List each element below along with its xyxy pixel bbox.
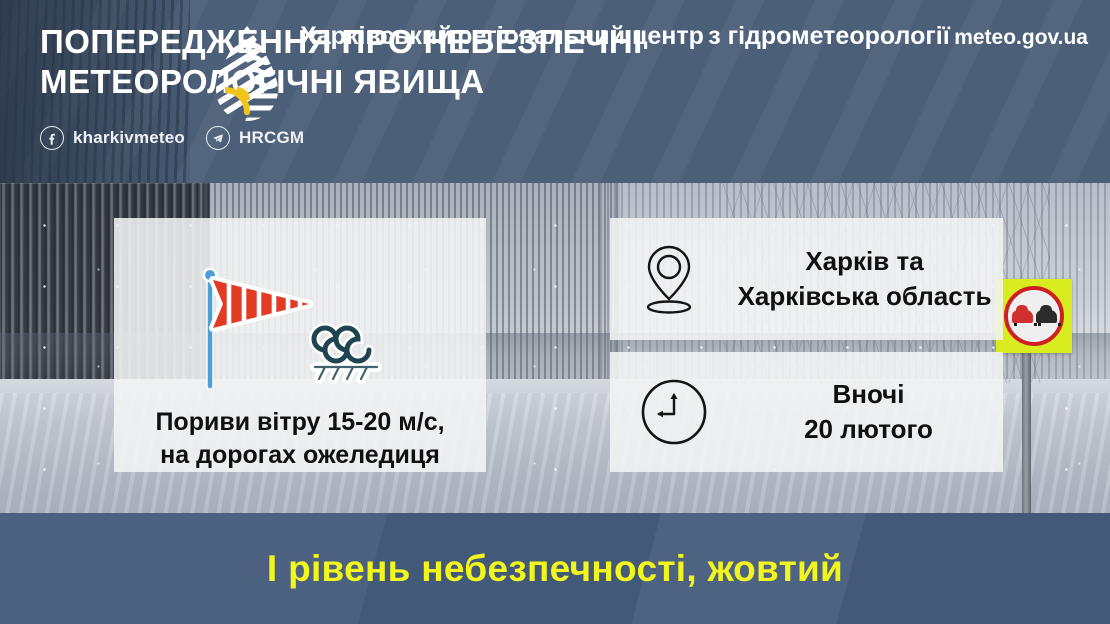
sign-post (1022, 338, 1031, 513)
brand-line-2: регіональний центр (457, 22, 704, 50)
location-line-1: Харків та (726, 244, 1003, 279)
facebook-icon[interactable] (40, 126, 64, 150)
telegram-handle[interactable]: HRCGM (239, 128, 304, 148)
facebook-handle[interactable]: kharkivmeteo (73, 128, 185, 148)
sign-car-red (1012, 310, 1033, 323)
danger-level-banner: І рівень небезпечності, жовтий (0, 513, 1110, 624)
time-text: Вночі 20 лютого (734, 377, 1003, 447)
location-card: Харків та Харківська область (610, 218, 1003, 340)
glaze-ice-icon (303, 320, 389, 390)
clock-icon (640, 378, 708, 446)
brand-line-3: з гідрометеорології (708, 22, 949, 50)
time-line-2: 20 лютого (734, 412, 1003, 447)
map-pin-icon (638, 241, 700, 317)
brand-website[interactable]: meteo.gov.ua (954, 26, 1088, 49)
hazard-icons (185, 258, 415, 406)
no-overtaking-sign (996, 279, 1072, 353)
hazard-caption-line-2: на дорогах ожеледиця (155, 439, 444, 472)
hazard-card: Пориви вітру 15-20 м/с, на дорогах ожеле… (114, 218, 486, 472)
header-banner: ПОПЕРЕДЖЕННЯ ПРО НЕБЕЗПЕЧНІ МЕТЕОРОЛОГІЧ… (0, 0, 1110, 183)
location-line-2: Харківська область (726, 279, 1003, 314)
water-droplet-logo (208, 24, 286, 130)
danger-level-text: І рівень небезпечності, жовтий (267, 548, 843, 590)
time-line-1: Вночі (734, 377, 1003, 412)
hazard-caption-line-1: Пориви вітру 15-20 м/с, (155, 408, 444, 436)
brand-name: Харківський регіональний центр з гідроме… (300, 20, 1088, 51)
time-card: Вночі 20 лютого (610, 352, 1003, 472)
weather-warning-poster: ПОПЕРЕДЖЕННЯ ПРО НЕБЕЗПЕЧНІ МЕТЕОРОЛОГІЧ… (0, 0, 1110, 624)
brand-block: Харківський регіональний центр з гідроме… (208, 20, 1088, 130)
sign-car-black (1036, 310, 1057, 323)
hazard-caption: Пориви вітру 15-20 м/с, на дорогах ожеле… (155, 406, 444, 472)
brand-line-1: Харківський (300, 22, 453, 50)
sign-circle (1004, 286, 1064, 346)
location-text: Харків та Харківська область (726, 244, 1003, 314)
